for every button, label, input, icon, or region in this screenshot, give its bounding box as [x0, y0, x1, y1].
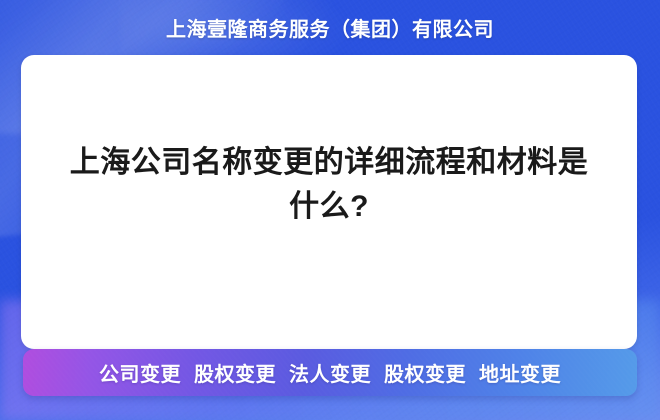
tag-item-equity-change[interactable]: 股权变更 — [194, 358, 276, 387]
tag-item-legal-person-change[interactable]: 法人变更 — [289, 358, 371, 387]
poster-canvas: 上海壹隆商务服务（集团）有限公司 上海公司名称变更的详细流程和材料是什么? 公司… — [0, 0, 660, 420]
tag-item-equity-change-2[interactable]: 股权变更 — [384, 358, 466, 387]
article-headline: 上海公司名称变更的详细流程和材料是什么? — [21, 141, 637, 229]
content-card: 上海公司名称变更的详细流程和材料是什么? — [21, 55, 637, 349]
tag-list: 公司变更 股权变更 法人变更 股权变更 地址变更 — [99, 358, 561, 387]
tag-item-company-change[interactable]: 公司变更 — [99, 358, 181, 387]
header-bar: 上海壹隆商务服务（集团）有限公司 — [0, 0, 660, 55]
company-name-title: 上海壹隆商务服务（集团）有限公司 — [166, 13, 494, 42]
tag-bar: 公司变更 股权变更 法人变更 股权变更 地址变更 — [23, 349, 637, 396]
tag-item-address-change[interactable]: 地址变更 — [479, 358, 561, 387]
